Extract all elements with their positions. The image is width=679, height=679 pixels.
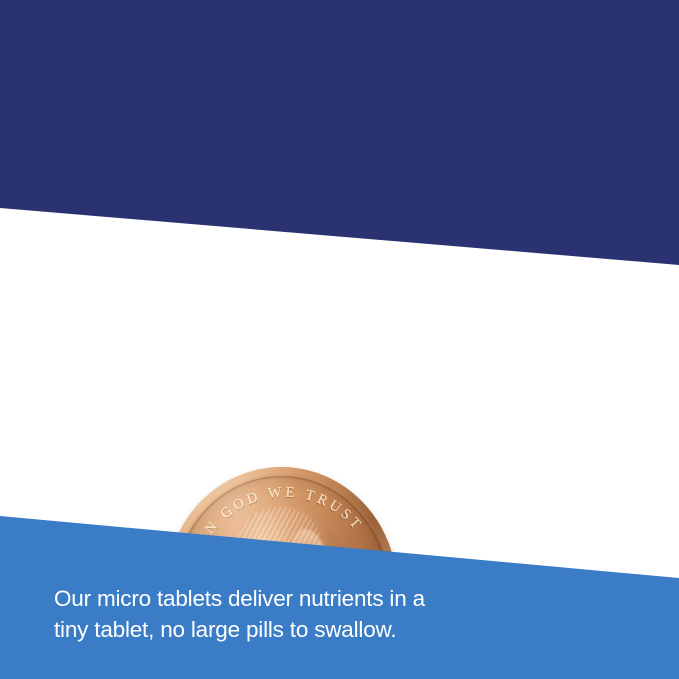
- footer-caption: Our micro tablets deliver nutrients in a…: [54, 583, 614, 645]
- footer-caption-line: Our micro tablets deliver nutrients in a: [54, 583, 614, 614]
- product-infographic: IN GOD WE TRUST LIBERTY 2020 S VDB: [0, 0, 679, 679]
- footer-caption-line: tiny tablet, no large pills to swallow.: [54, 614, 614, 645]
